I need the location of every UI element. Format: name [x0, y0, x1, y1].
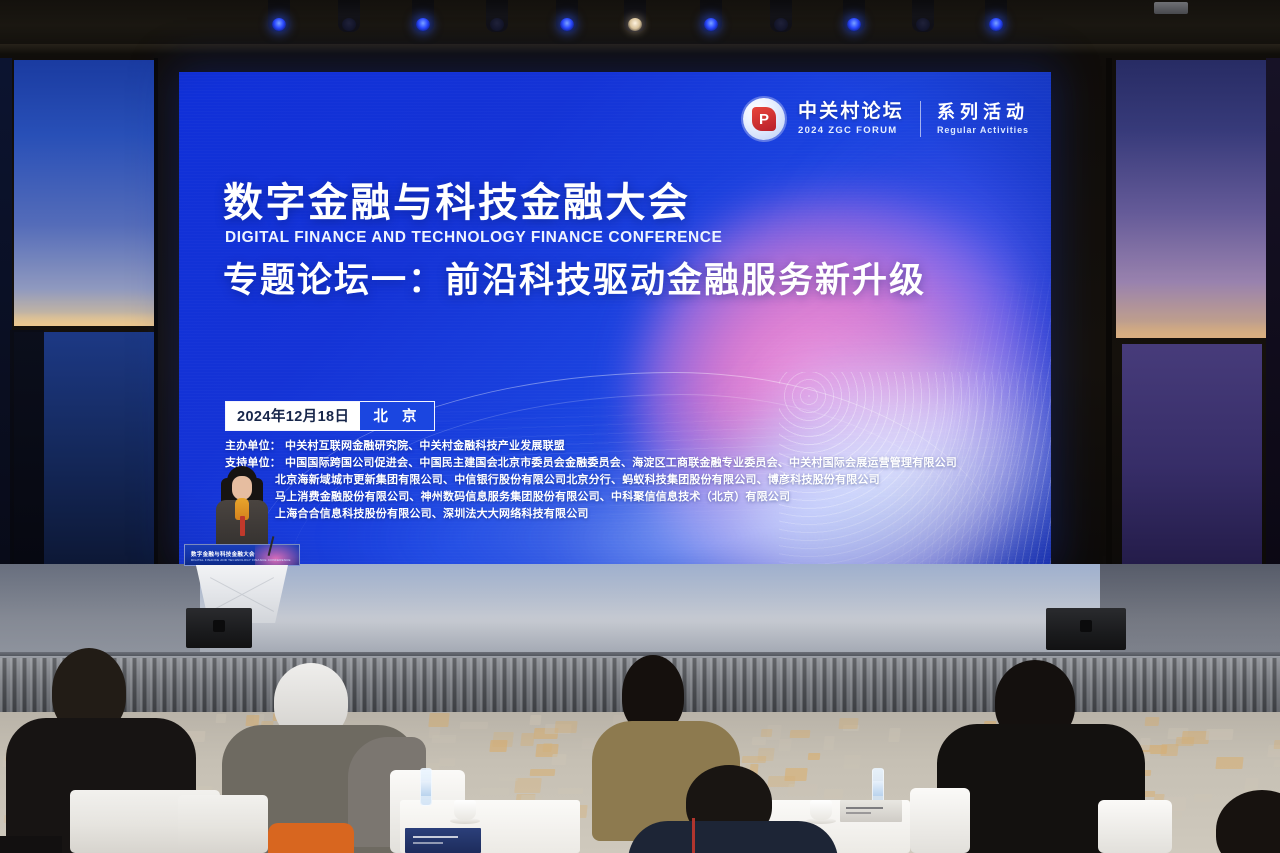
carpet-tile [529, 769, 554, 776]
carpet-tile [429, 713, 450, 727]
speaker-grill-icon [213, 620, 225, 632]
carpet-tile [432, 735, 457, 743]
carpet-tile [459, 722, 488, 729]
organizer-text: 中国国际跨国公司促进会、中国民主建国会北京市委员会金融委员会、海淀区工商联金融专… [285, 457, 957, 469]
zgc-brand-en: 2024 ZGC FORUM [798, 125, 904, 136]
stage-light-icon [486, 0, 508, 32]
zgc-emblem-icon: P [743, 98, 785, 140]
podium-banner-en: DIGITAL FINANCE AND TECHNOLOGY FINANCE C… [191, 558, 291, 562]
name-card-line [413, 842, 443, 844]
wall-panel-left-upper [14, 60, 156, 326]
carpet-tile [761, 729, 773, 737]
carpet-tile [790, 730, 811, 738]
stage-monitor-speaker-left [186, 608, 252, 648]
carpet-tile [1205, 729, 1233, 740]
stage-light-icon [843, 0, 865, 32]
stage-light-icon [338, 0, 360, 32]
stage-floor-left-shadow [0, 564, 200, 660]
name-card-line [413, 836, 459, 838]
audience-member [1216, 790, 1280, 853]
organizer-line: 上海合合信息科技股份有限公司、深圳法大大网络科技有限公司 [225, 506, 957, 523]
carpet-tile [1215, 757, 1244, 769]
organizer-label: 主办单位： [225, 440, 281, 452]
sofa-armrest [910, 788, 970, 853]
carpet-tile [558, 788, 584, 794]
organizer-line: 主办单位：中关村互联网金融研究院、中关村金融科技产业发展联盟 [225, 438, 957, 455]
zgc-secondary-text: 系列活动 Regular Activities [937, 103, 1029, 135]
conference-title-cn: 数字金融与科技金融大会 [223, 182, 691, 224]
carpet-tile [555, 721, 578, 733]
zgc-brand-cn: 中关村论坛 [798, 102, 904, 122]
carpet-tile [808, 753, 821, 760]
event-meta-badge: 2024年12月18日 北 京 [225, 401, 435, 431]
organizer-text: 中关村互联网金融研究院、中关村金融科技产业发展联盟 [285, 440, 565, 452]
zgc-secondary-cn: 系列活动 [937, 103, 1029, 122]
speaker-person [210, 466, 274, 550]
stage-light-icon [912, 0, 934, 32]
stage-floor-right-shadow [1100, 564, 1280, 660]
speaker-face [232, 476, 252, 500]
audience-shoulders [628, 821, 838, 853]
stage-light-icon [985, 0, 1007, 32]
carpet-tile [824, 789, 844, 799]
tea-cup [454, 800, 476, 820]
carpet-tile [823, 736, 835, 750]
bottle-label [421, 781, 431, 796]
podium-area: 数字金融与科技金融大会 DIGITAL FINANCE AND TECHNOLO… [184, 466, 300, 628]
name-card [405, 828, 481, 853]
carpet-tile [490, 740, 509, 752]
stage-light-icon [770, 0, 792, 32]
organizer-line: 北京海新域城市更新集团有限公司、中信银行股份有限公司北京分行、蚂蚁科技集团股份有… [225, 472, 957, 489]
name-card-line [846, 807, 883, 809]
lanyard-strap [692, 818, 695, 853]
logo-divider [920, 101, 921, 137]
carpet-tile [1144, 717, 1159, 726]
carpet-tile [888, 728, 901, 742]
name-card [840, 800, 902, 822]
stage-light-icon [700, 0, 722, 32]
event-date: 2024年12月18日 [226, 402, 360, 430]
carpet-tile [838, 718, 858, 729]
audience-head [1216, 790, 1280, 853]
zgc-secondary-en: Regular Activities [937, 125, 1029, 135]
carpet-tile [751, 737, 766, 745]
carpet-tile [499, 774, 518, 781]
speaker-grill-icon [1080, 620, 1092, 632]
carpet-tile [551, 754, 566, 765]
water-bottle [420, 768, 432, 806]
organizer-line: 马上消费金融股份有限公司、神州数码信息服务集团股份有限公司、中科聚信信息技术（北… [225, 489, 957, 506]
carpet-tile [439, 758, 455, 766]
podium-banner: 数字金融与科技金融大会 DIGITAL FINANCE AND TECHNOLO… [184, 544, 300, 566]
forum-subtitle-cn: 专题论坛一：前沿科技驱动金融服务新升级 [223, 262, 926, 301]
carpet-tile [521, 733, 535, 746]
wall-edge-right [1266, 58, 1280, 620]
zgc-forum-logo: P 中关村论坛 2024 ZGC FORUM 系列活动 Regular Acti… [743, 98, 1029, 140]
audience-sofa [178, 795, 268, 853]
bottle-label [873, 781, 883, 796]
conference-hall-scene: P 中关村论坛 2024 ZGC FORUM 系列活动 Regular Acti… [0, 0, 1280, 853]
speaker-lanyard [240, 516, 245, 536]
carpet-tile [1274, 740, 1280, 749]
organizer-line: 支持单位：中国国际跨国公司促进会、中国民主建国会北京市委员会金融委员会、海淀区工… [225, 455, 957, 472]
stage-monitor-speaker-right [1046, 608, 1126, 650]
carpet-tile [1274, 760, 1280, 767]
carpet-tile [1193, 794, 1212, 802]
wall-panel-right-upper [1116, 60, 1266, 338]
foreground-shadow [0, 836, 62, 853]
ceiling-vent [1154, 2, 1188, 14]
organizer-list: 主办单位：中关村互联网金融研究院、中关村金融科技产业发展联盟 支持单位：中国国际… [225, 438, 957, 523]
event-city: 北 京 [360, 402, 434, 430]
sofa-armrest [1098, 800, 1172, 853]
carpet-tile [216, 714, 227, 723]
carpet-tile [757, 748, 774, 761]
screen-content: P 中关村论坛 2024 ZGC FORUM 系列活动 Regular Acti… [179, 72, 1051, 564]
stage-light-icon [268, 0, 290, 32]
wall-seam-right [1106, 58, 1112, 620]
podium-banner-cn: 数字金融与科技金融大会 [191, 550, 255, 558]
zgc-brand-text: 中关村论坛 2024 ZGC FORUM [798, 102, 904, 136]
carpet-tile [779, 739, 792, 751]
ceiling [0, 0, 1280, 64]
wall-seam-left [154, 58, 158, 620]
carpet-tile [514, 778, 541, 793]
ceiling-truss [0, 44, 1280, 54]
name-card-line [846, 812, 871, 814]
conference-title-en: DIGITAL FINANCE AND TECHNOLOGY FINANCE C… [225, 229, 722, 247]
carpet-tile [480, 788, 509, 795]
stage-light-icon [624, 0, 646, 32]
organizer-text: 北京海新域城市更新集团有限公司、中信银行股份有限公司北京分行、蚂蚁科技集团股份有… [275, 474, 880, 486]
carpet-tile [843, 755, 860, 769]
led-stage-screen: P 中关村论坛 2024 ZGC FORUM 系列活动 Regular Acti… [179, 72, 1051, 564]
audience-scarf [268, 823, 354, 853]
organizer-text: 马上消费金融股份有限公司、神州数码信息服务集团股份有限公司、中科聚信信息技术（北… [275, 491, 790, 503]
audience-member [640, 765, 820, 853]
stage-light-icon [556, 0, 578, 32]
carpet-tile [529, 715, 541, 725]
stage-light-icon [412, 0, 434, 32]
organizer-text: 上海合合信息科技股份有限公司、深圳法大大网络科技有限公司 [275, 508, 589, 520]
zgc-emblem-letter: P [752, 107, 776, 131]
